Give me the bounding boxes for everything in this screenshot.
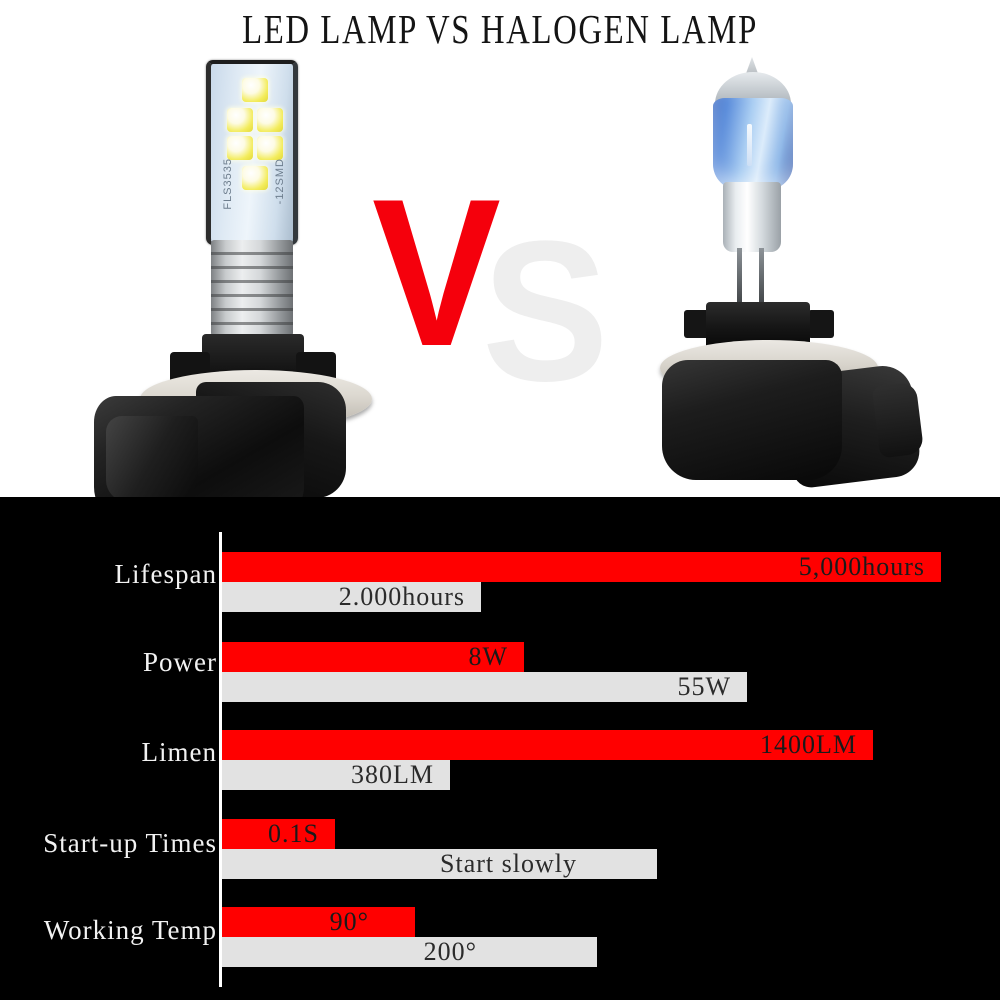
led-chip [227,108,253,132]
product-photo-panel: LED LAMP VS HALOGEN LAMP FLS3535 -12SMD [0,0,1000,497]
halogen-blue-glass [713,98,793,190]
led-chip [257,136,283,160]
bar-value-led-lifespan: 5,000hours [799,552,941,582]
pcb-model-text-left: FLS3535 [222,158,234,210]
bar-value-led-working-temp: 90° [330,907,415,937]
bar-halogen-startup-times: Start slowly [222,849,657,879]
versus-s-letter: S [482,220,609,404]
chart-category-label-power: Power [143,647,217,678]
bar-halogen-working-temp: 200° [222,937,597,967]
bar-value-halogen-startup-times: Start slowly [440,849,657,879]
versus-v-letter: V [372,176,501,369]
page-title: LED LAMP VS HALOGEN LAMP [100,5,900,53]
led-heatsink [211,240,293,336]
bar-halogen-limen: 380LM [222,760,450,790]
bar-value-led-limen: 1400LM [760,730,873,760]
bar-led-power: 8W [222,642,524,672]
halogen-socket-body [662,360,842,480]
bar-halogen-power: 55W [222,672,747,702]
chart-category-label-working-temp: Working Temp [44,915,217,946]
led-lamp-photo: FLS3535 -12SMD [78,52,368,482]
halogen-base-wing [808,310,834,338]
bar-led-working-temp: 90° [222,907,415,937]
bar-halogen-lifespan: 2.000hours [222,582,481,612]
led-pcb: FLS3535 -12SMD [206,60,298,245]
halogen-lamp-photo [640,52,940,482]
chart-category-label-lifespan: Lifespan [115,559,217,590]
bar-led-limen: 1400LM [222,730,873,760]
bar-value-led-startup-times: 0.1S [268,819,335,849]
versus-mark: S V [372,160,602,400]
bar-led-lifespan: 5,000hours [222,552,941,582]
bar-value-halogen-lifespan: 2.000hours [339,582,481,612]
led-chip [257,108,283,132]
bar-value-halogen-power: 55W [677,672,747,702]
bar-value-led-power: 8W [468,642,524,672]
halogen-pinch-seal [723,182,781,252]
comparison-bar-chart: Lifespan 5,000hours 2.000hours Power 8W … [0,497,1000,1000]
pcb-model-text-right: -12SMD [274,158,286,204]
chart-category-label-startup-times: Start-up Times [43,828,217,859]
bar-led-startup-times: 0.1S [222,819,335,849]
led-chip [227,136,253,160]
led-chip [242,78,268,102]
halogen-filament [747,124,752,166]
led-connector-ridge [106,416,198,497]
bar-value-halogen-limen: 380LM [351,760,450,790]
chart-category-label-limen: Limen [142,737,217,768]
led-chip [242,166,268,190]
bar-value-halogen-working-temp: 200° [424,937,597,967]
halogen-connector-mouth [872,382,924,459]
